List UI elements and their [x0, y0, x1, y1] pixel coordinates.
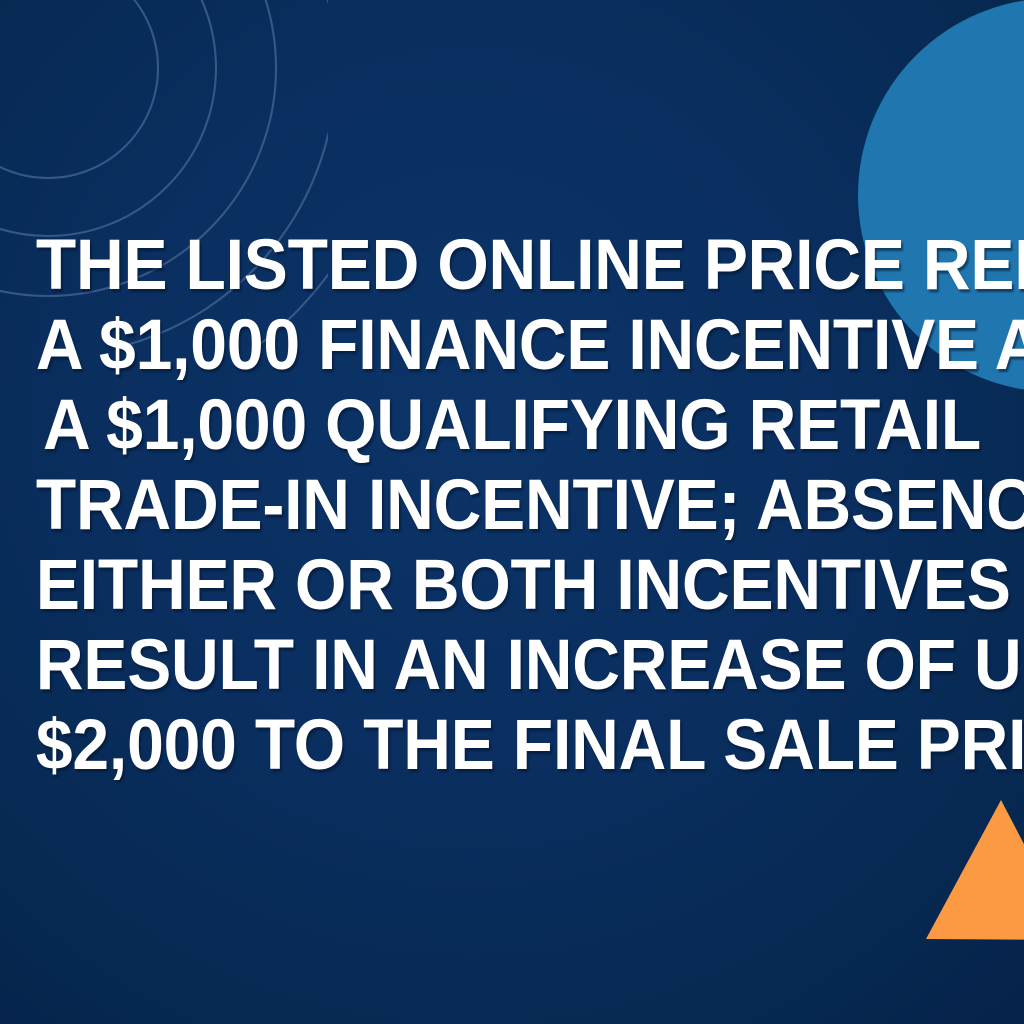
- headline-line-5: EITHER OR BOTH INCENTIVES WILL: [36, 546, 988, 626]
- orange-triangle-shape: [924, 800, 1024, 940]
- headline-line-6: RESULT IN AN INCREASE OF UP TO: [36, 626, 988, 706]
- headline-line-2: A $1,000 FINANCE INCENTIVE AND: [36, 306, 988, 386]
- page-title: THE LISTED ONLINE PRICE REFLECTS A $1,00…: [0, 226, 1024, 786]
- headline-line-1: THE LISTED ONLINE PRICE REFLECTS: [36, 226, 988, 306]
- promo-disclaimer-card: THE LISTED ONLINE PRICE REFLECTS A $1,00…: [0, 0, 1024, 1024]
- headline-line-7: $2,000 TO THE FINAL SALE PRICE.: [36, 706, 988, 786]
- headline-line-4: TRADE-IN INCENTIVE; ABSENCE OF: [36, 466, 988, 546]
- headline-line-3: A $1,000 QUALIFYING RETAIL: [36, 386, 988, 466]
